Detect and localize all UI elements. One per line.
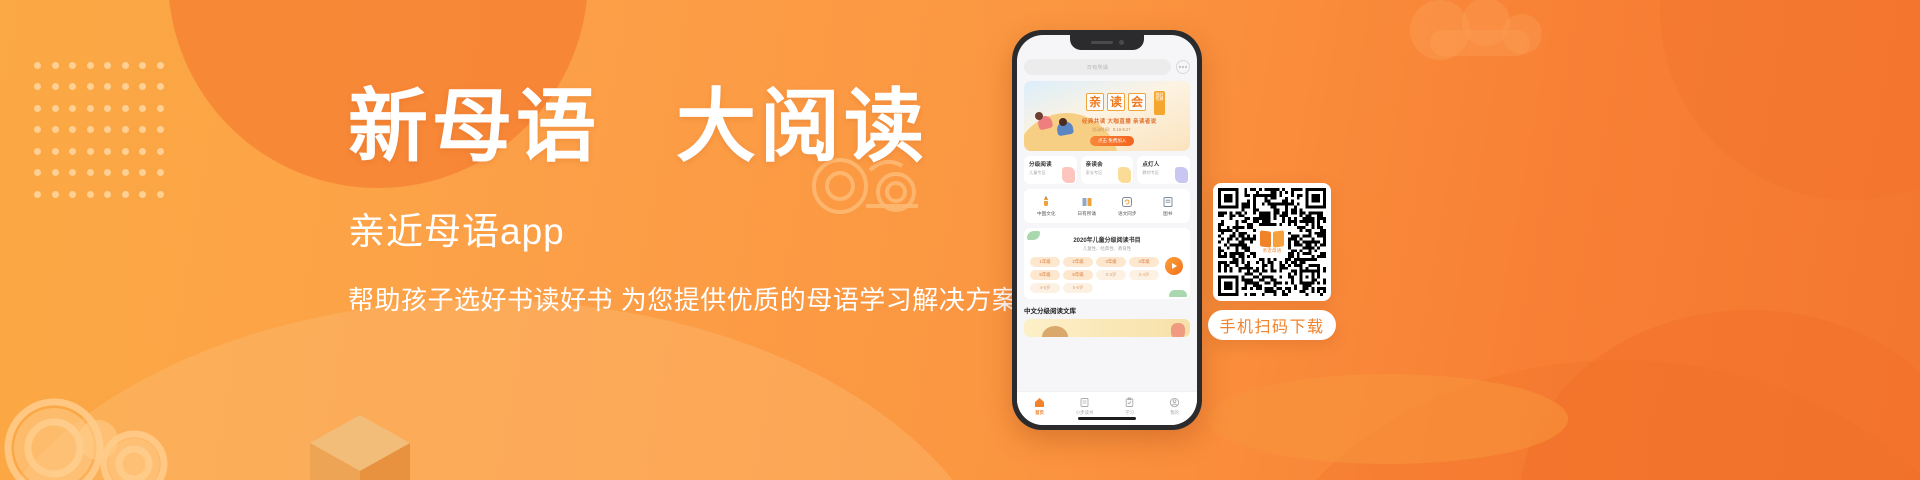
grid-dot bbox=[122, 148, 129, 155]
grid-dot bbox=[122, 83, 129, 90]
grid-dot bbox=[139, 105, 146, 112]
cloud-icon-right bbox=[1390, 0, 1570, 70]
grid-dot bbox=[69, 62, 76, 69]
promo-banner: 新母语 大阅读 亲近母语app 帮助孩子选好书读好书 为您提供优质的母语学习解决… bbox=[0, 0, 1920, 480]
grid-dot bbox=[87, 83, 94, 90]
grid-dot bbox=[69, 148, 76, 155]
tab-mine[interactable]: 我的 bbox=[1152, 397, 1197, 416]
grid-dot bbox=[52, 148, 59, 155]
grade-chip[interactable]: 5年级 bbox=[1030, 270, 1060, 280]
play-triangle bbox=[1172, 263, 1177, 269]
booklist-card: 2020年儿童分级阅读书目 儿童性、经典性、教育性 1年级 2年级 3年级 4年… bbox=[1024, 228, 1190, 299]
grid-dot bbox=[52, 191, 59, 198]
book-shape-icon bbox=[1175, 167, 1188, 183]
grid-dot bbox=[122, 62, 129, 69]
clipboard-check-icon bbox=[1124, 397, 1135, 408]
decor-cube bbox=[300, 405, 420, 480]
grid-dot bbox=[157, 126, 164, 133]
grid-dot bbox=[139, 126, 146, 133]
grade-chip-group: 1年级 2年级 3年级 4年级 5年级 6年级 0-3岁 3-4岁 4-5岁 5… bbox=[1030, 257, 1184, 293]
quick-link-tushu[interactable]: 图书 bbox=[1148, 195, 1189, 217]
speaker-icon bbox=[1091, 41, 1113, 44]
grid-dot bbox=[139, 62, 146, 69]
brand-name: 亲近母语 bbox=[1263, 248, 1282, 254]
grid-dot bbox=[52, 62, 59, 69]
grid-dot bbox=[139, 191, 146, 198]
promo-subtitle: 经典共读 大咖直播 亲读者说 bbox=[1082, 117, 1157, 125]
age-chip[interactable]: 5-6岁 bbox=[1063, 283, 1093, 293]
quick-link-riyousuosong[interactable]: 日有所诵 bbox=[1067, 195, 1108, 217]
app-name-subtitle: 亲近母语app bbox=[348, 210, 1048, 254]
promo-title-char-3: 会 bbox=[1128, 93, 1146, 111]
quick-links-row: 中国文化 日有所诵 bbox=[1024, 189, 1190, 223]
promo-title-char-1: 亲 bbox=[1086, 93, 1104, 111]
age-chip[interactable]: 4-5岁 bbox=[1030, 283, 1060, 293]
refresh-square-icon bbox=[1121, 195, 1134, 208]
grid-dot bbox=[122, 105, 129, 112]
grid-dot bbox=[104, 62, 111, 69]
grade-chip[interactable]: 4年级 bbox=[1129, 257, 1159, 267]
library-banner[interactable] bbox=[1024, 319, 1190, 337]
home-indicator bbox=[1078, 417, 1136, 420]
grid-dot bbox=[87, 148, 94, 155]
promo-date: 活动时间：9.16-9.27 bbox=[1092, 127, 1131, 133]
grid-dot bbox=[34, 105, 41, 112]
quick-link-label: 语文同步 bbox=[1107, 211, 1148, 217]
bottom-tabbar: 首页 小步读书 bbox=[1017, 391, 1197, 425]
decor-circle-bottom-right bbox=[1520, 310, 1920, 480]
phone-screen: 日有所诵 亲 读 会 限 bbox=[1017, 35, 1197, 425]
tab-label: 小步读书 bbox=[1062, 410, 1107, 416]
tab-xuexi[interactable]: 学习 bbox=[1107, 397, 1152, 416]
grid-dot bbox=[34, 83, 41, 90]
promo-title: 亲 读 会 bbox=[1086, 93, 1146, 111]
banner-text-block: 新母语 大阅读 亲近母语app 帮助孩子选好书读好书 为您提供优质的母语学习解决… bbox=[348, 88, 1048, 318]
quick-link-label: 中国文化 bbox=[1026, 211, 1067, 217]
book-shape-icon bbox=[1118, 167, 1131, 183]
grid-dot bbox=[52, 105, 59, 112]
grid-dot bbox=[52, 169, 59, 176]
book-open-icon bbox=[1080, 195, 1093, 208]
promo-kid-2-head bbox=[1059, 118, 1067, 126]
grade-chip[interactable]: 2年级 bbox=[1063, 257, 1093, 267]
grid-dot bbox=[69, 126, 76, 133]
tab-label: 我的 bbox=[1152, 410, 1197, 416]
cloud-icon-left bbox=[0, 376, 204, 480]
phone-notch bbox=[1070, 35, 1144, 50]
decor-circle-right-top bbox=[1660, 0, 1920, 200]
quick-link-yuwentongbu[interactable]: 语文同步 bbox=[1107, 195, 1148, 217]
dot bbox=[1185, 66, 1187, 68]
grade-chip[interactable]: 1年级 bbox=[1030, 257, 1060, 267]
dot bbox=[1182, 66, 1184, 68]
grid-dot bbox=[122, 126, 129, 133]
decor-phone-shadow bbox=[1208, 374, 1568, 464]
grid-dot bbox=[87, 191, 94, 198]
book-left-page bbox=[1260, 230, 1271, 247]
library-decor-2 bbox=[1171, 323, 1185, 337]
grid-dot bbox=[104, 105, 111, 112]
category-card-qinduhui[interactable]: 亲读会 家长专区 bbox=[1081, 156, 1134, 184]
grid-dot bbox=[157, 105, 164, 112]
age-chip[interactable]: 0-3岁 bbox=[1096, 270, 1126, 280]
book-logo-icon bbox=[1260, 231, 1284, 247]
grid-dot bbox=[139, 83, 146, 90]
dot bbox=[1179, 66, 1181, 68]
more-dots-icon[interactable] bbox=[1176, 60, 1190, 74]
grid-dot bbox=[34, 126, 41, 133]
camera-icon bbox=[1119, 40, 1124, 45]
book-right-page bbox=[1273, 230, 1284, 247]
grade-chip[interactable]: 3年级 bbox=[1096, 257, 1126, 267]
app-screen-content: 日有所诵 亲 读 会 限 bbox=[1017, 35, 1197, 425]
grid-dot bbox=[104, 148, 111, 155]
grid-dot bbox=[157, 83, 164, 90]
grid-dot bbox=[139, 169, 146, 176]
grid-dot bbox=[104, 126, 111, 133]
grid-dot bbox=[34, 191, 41, 198]
search-input[interactable]: 日有所诵 bbox=[1024, 59, 1171, 75]
quick-link-label: 日有所诵 bbox=[1067, 211, 1108, 217]
book-shape-icon bbox=[1062, 167, 1075, 183]
section-title: 中文分级阅读文库 bbox=[1024, 305, 1190, 315]
promo-tag: 限时招募 bbox=[1154, 91, 1165, 115]
grid-dot bbox=[69, 169, 76, 176]
grid-dot bbox=[87, 169, 94, 176]
grid-dot bbox=[69, 191, 76, 198]
tab-home[interactable]: 首页 bbox=[1017, 397, 1062, 416]
book-icon bbox=[1161, 195, 1174, 208]
grid-dot bbox=[69, 105, 76, 112]
grid-dot bbox=[34, 62, 41, 69]
lantern-icon bbox=[1040, 195, 1053, 208]
grid-dot bbox=[34, 169, 41, 176]
promo-card[interactable]: 亲 读 会 限时招募 经典共读 大咖直播 亲读者说 活动时间：9.16-9.27… bbox=[1024, 81, 1190, 151]
grade-chip[interactable]: 6年级 bbox=[1063, 270, 1093, 280]
category-card-diandengren[interactable]: 点灯人 教师专区 bbox=[1137, 156, 1190, 184]
tab-xiaobu-dushu[interactable]: 小步读书 bbox=[1062, 397, 1107, 416]
age-chip[interactable]: 3-4岁 bbox=[1129, 270, 1159, 280]
decor-dot-grid bbox=[34, 62, 174, 212]
download-button[interactable]: 手机扫码下载 bbox=[1208, 310, 1336, 340]
grid-dot bbox=[139, 148, 146, 155]
headline-part-2: 大阅读 bbox=[676, 84, 928, 172]
grid-dot bbox=[52, 83, 59, 90]
library-decor-1 bbox=[1042, 326, 1068, 337]
grid-dot bbox=[69, 83, 76, 90]
promo-join-button[interactable]: 点击 免费加入 bbox=[1090, 136, 1134, 146]
tab-label: 学习 bbox=[1107, 410, 1152, 416]
page-title: 新母语 大阅读 bbox=[348, 88, 1048, 168]
grid-dot bbox=[87, 105, 94, 112]
category-card-fenji[interactable]: 分级阅读 儿童专区 bbox=[1024, 156, 1077, 184]
home-icon bbox=[1034, 397, 1045, 408]
qr-center-logo: 亲近母语 bbox=[1256, 226, 1288, 258]
list-icon bbox=[1079, 397, 1090, 408]
grid-dot bbox=[157, 148, 164, 155]
qr-code-image: 亲近母语 bbox=[1218, 188, 1326, 296]
grid-dot bbox=[87, 62, 94, 69]
grid-dot bbox=[34, 148, 41, 155]
headline-part-1: 新母语 bbox=[348, 84, 600, 172]
user-icon bbox=[1169, 397, 1180, 408]
grid-dot bbox=[104, 83, 111, 90]
quick-link-label: 图书 bbox=[1148, 211, 1189, 217]
play-video-icon[interactable] bbox=[1165, 257, 1183, 275]
grid-dot bbox=[157, 169, 164, 176]
banner-description: 帮助孩子选好书读好书 为您提供优质的母语学习解决方案 bbox=[348, 284, 1048, 318]
quick-link-zhongguowenhua[interactable]: 中国文化 bbox=[1026, 195, 1067, 217]
search-placeholder: 日有所诵 bbox=[1087, 64, 1108, 71]
download-button-label: 手机扫码下载 bbox=[1219, 313, 1324, 337]
grid-dot bbox=[122, 169, 129, 176]
booklist-title: 2020年儿童分级阅读书目 bbox=[1030, 235, 1184, 244]
promo-title-char-2: 读 bbox=[1107, 93, 1125, 111]
grid-dot bbox=[122, 191, 129, 198]
phone-mockup: 日有所诵 亲 读 会 限 bbox=[1012, 30, 1202, 430]
grid-dot bbox=[52, 126, 59, 133]
category-card-row: 分级阅读 儿童专区 亲读会 家长专区 点灯人 教师专区 bbox=[1024, 156, 1190, 184]
grid-dot bbox=[157, 191, 164, 198]
search-row: 日有所诵 bbox=[1024, 59, 1190, 75]
qr-code-card: 亲近母语 bbox=[1213, 183, 1331, 301]
promo-kid-1-head bbox=[1035, 112, 1043, 120]
grid-dot bbox=[87, 126, 94, 133]
grid-dot bbox=[104, 191, 111, 198]
grid-dot bbox=[157, 62, 164, 69]
grid-dot bbox=[104, 169, 111, 176]
decor-wave-bottom-right bbox=[1240, 360, 1920, 480]
booklist-subtitle: 儿童性、经典性、教育性 bbox=[1030, 246, 1184, 252]
tab-label: 首页 bbox=[1017, 410, 1062, 416]
